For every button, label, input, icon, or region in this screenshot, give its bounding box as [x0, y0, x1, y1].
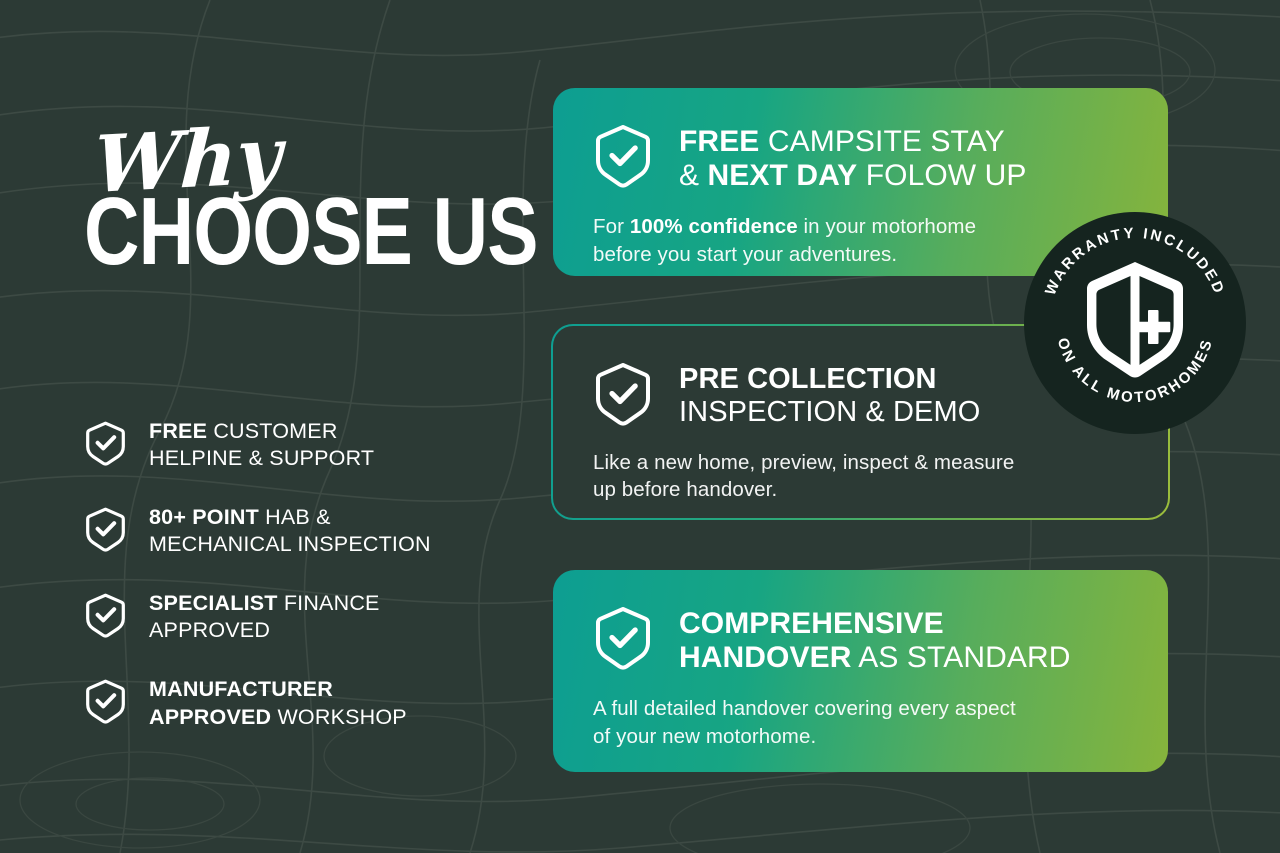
bullet-rest: FINANCE [278, 591, 380, 615]
list-item-label: FREE CUSTOMER HELPINE & SUPPORT [149, 418, 374, 472]
card-header: COMPREHENSIVE HANDOVER AS STANDARD [593, 604, 1128, 675]
bullet-line2: WORKSHOP [271, 705, 407, 729]
card-title: FREE CAMPSITE STAY & NEXT DAY FOLOW UP [679, 122, 1027, 193]
benefits-list: FREE CUSTOMER HELPINE & SUPPORT 80+ POIN… [84, 418, 504, 731]
card-title-rest-2: AS STANDARD [851, 641, 1070, 674]
list-item: 80+ POINT HAB & MECHANICAL INSPECTION [84, 504, 504, 558]
shield-check-icon [593, 605, 653, 671]
shield-check-icon [84, 592, 127, 638]
card-title: COMPREHENSIVE HANDOVER AS STANDARD [679, 604, 1071, 675]
bullet-bold: MANUFACTURER [149, 677, 333, 701]
bullet-line2: HELPINE & SUPPORT [149, 446, 374, 470]
list-item: SPECIALIST FINANCE APPROVED [84, 590, 504, 644]
list-item-label: MANUFACTURER APPROVED WORKSHOP [149, 676, 407, 730]
bullet-line2: MECHANICAL INSPECTION [149, 532, 431, 556]
bullet-bold: 80+ POINT [149, 505, 259, 529]
card-title-rest-2: FOLOW UP [857, 159, 1026, 192]
card-title-rest: CAMPSITE STAY [759, 125, 1004, 158]
card-title-bold-2: NEXT DAY [708, 159, 858, 192]
card-title-bold: FREE [679, 125, 759, 158]
feature-card-comprehensive-handover: COMPREHENSIVE HANDOVER AS STANDARD A ful… [553, 570, 1168, 772]
card-header: FREE CAMPSITE STAY & NEXT DAY FOLOW UP [593, 122, 1128, 193]
card-body-line2: of your new motorhome. [593, 723, 1128, 750]
poster-canvas: Why CHOOSE US FREE CUSTOMER HELPINE & SU… [0, 0, 1280, 853]
bullet-bold: SPECIALIST [149, 591, 278, 615]
shield-check-icon [593, 123, 653, 189]
card-title: PRE COLLECTION INSPECTION & DEMO [679, 360, 980, 429]
bullet-bold: FREE [149, 419, 207, 443]
bullet-line2-bold: APPROVED [149, 705, 271, 729]
list-item: FREE CUSTOMER HELPINE & SUPPORT [84, 418, 504, 472]
card-title-bold-2: HANDOVER [679, 641, 851, 674]
bullet-line2: APPROVED [149, 618, 270, 642]
card-title-pre: & [679, 159, 708, 192]
card-body: Like a new home, preview, inspect & meas… [593, 449, 1128, 504]
shield-check-icon [84, 420, 127, 466]
card-title-bold: PRE COLLECTION [679, 363, 937, 395]
bullet-rest: HAB & [259, 505, 331, 529]
card-title-rest-2: INSPECTION & DEMO [679, 396, 980, 428]
card-body-bold: 100% confidence [630, 215, 798, 238]
title-choose-us: CHOOSE US [84, 190, 428, 274]
card-body-pre: For [593, 215, 630, 238]
warranty-badge: WARRANTY INCLUDED ON ALL MOTORHOMES [1024, 212, 1246, 434]
bullet-rest: CUSTOMER [207, 419, 337, 443]
list-item-label: 80+ POINT HAB & MECHANICAL INSPECTION [149, 504, 431, 558]
list-item: MANUFACTURER APPROVED WORKSHOP [84, 676, 504, 730]
card-body-rest: Like a new home, preview, inspect & meas… [593, 451, 1014, 474]
card-body: A full detailed handover covering every … [593, 695, 1128, 750]
page-title: Why CHOOSE US [84, 130, 514, 274]
shield-check-icon [593, 361, 653, 427]
list-item-label: SPECIALIST FINANCE APPROVED [149, 590, 380, 644]
card-title-bold: COMPREHENSIVE [679, 607, 944, 640]
card-body-rest: A full detailed handover covering every … [593, 697, 1016, 720]
shield-check-icon [84, 506, 127, 552]
shield-check-icon [84, 678, 127, 724]
card-body-rest: in your motorhome [798, 215, 976, 238]
card-body-line2: up before handover. [593, 476, 1128, 503]
